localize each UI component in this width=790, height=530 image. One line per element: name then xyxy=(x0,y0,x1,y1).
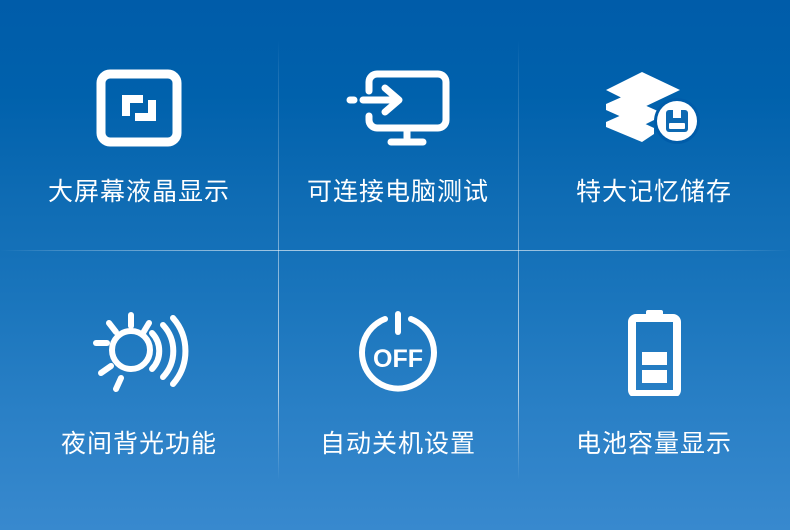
layers-save-icon xyxy=(604,62,704,154)
battery-icon xyxy=(624,302,684,402)
feature-label: 特大记忆储存 xyxy=(576,180,732,205)
feature-cell-pc-connection-test[interactable]: 可连接电脑测试 xyxy=(278,0,518,250)
feature-cell-battery-level-display[interactable]: 电池容量显示 xyxy=(518,250,790,530)
feature-grid-page: 大屏幕液晶显示 可连接电脑测试 xyxy=(0,0,790,530)
feature-cell-night-backlight[interactable]: 夜间背光功能 xyxy=(0,250,278,530)
feature-label: 电池容量显示 xyxy=(576,432,732,457)
feature-cell-auto-power-off[interactable]: OFF 自动关机设置 xyxy=(278,250,518,530)
feature-grid: 大屏幕液晶显示 可连接电脑测试 xyxy=(0,0,790,530)
feature-label: 自动关机设置 xyxy=(320,432,476,457)
feature-cell-large-memory-storage[interactable]: 特大记忆储存 xyxy=(518,0,790,250)
power-off-icon: OFF xyxy=(356,302,440,402)
feature-label: 大屏幕液晶显示 xyxy=(48,180,230,205)
power-off-label: OFF xyxy=(373,345,423,373)
feature-label: 可连接电脑测试 xyxy=(307,180,489,205)
monitor-arrow-in-icon xyxy=(345,62,451,154)
fullscreen-screen-icon xyxy=(96,62,182,154)
feature-cell-large-lcd-display[interactable]: 大屏幕液晶显示 xyxy=(0,0,278,250)
sun-waves-icon xyxy=(89,302,189,402)
feature-label: 夜间背光功能 xyxy=(61,432,217,457)
